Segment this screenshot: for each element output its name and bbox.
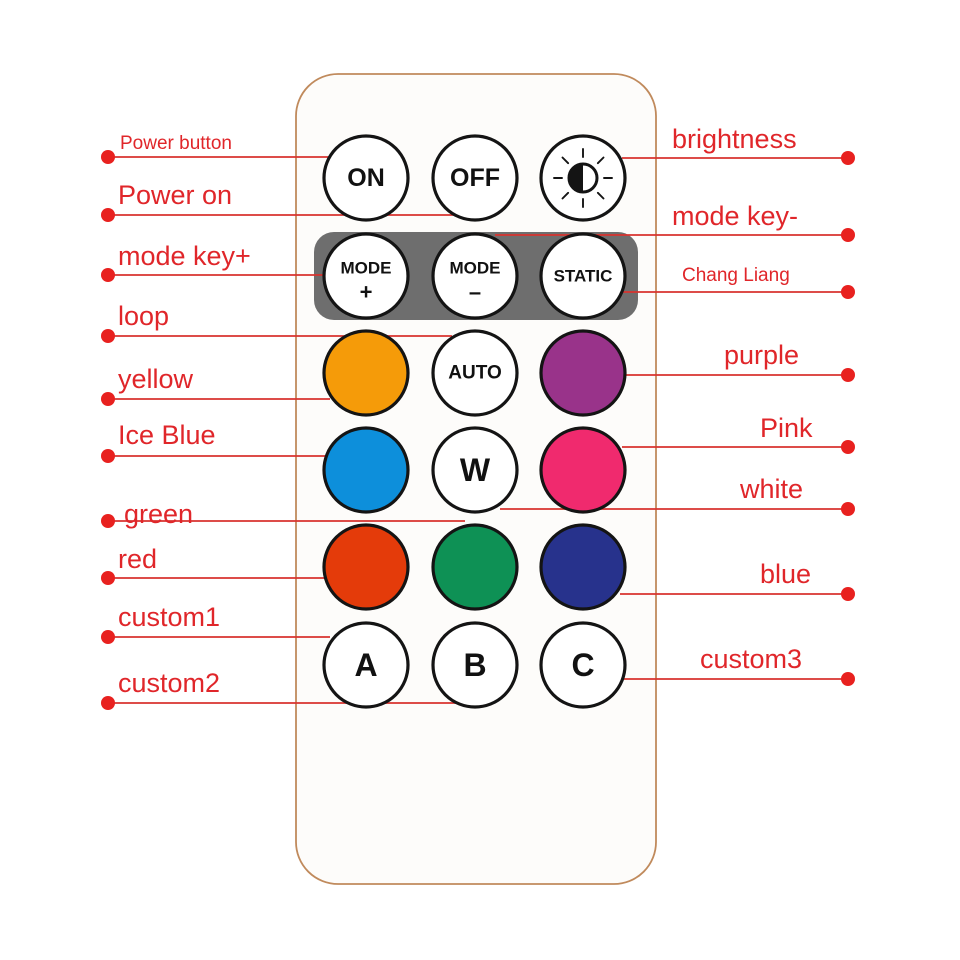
- button-text: AUTO: [448, 363, 501, 384]
- callout-label-mode-key-plus: mode key+: [118, 241, 251, 271]
- remote-button-pink[interactable]: [541, 428, 625, 512]
- leader-dot: [101, 571, 115, 585]
- leader-dot: [841, 440, 855, 454]
- leader-dot: [101, 392, 115, 406]
- button-text: W: [460, 452, 491, 488]
- remote-button-green[interactable]: [433, 525, 517, 609]
- callout-label-custom2: custom2: [118, 668, 220, 698]
- leader-dot: [101, 449, 115, 463]
- leader-dot: [841, 228, 855, 242]
- leader-dot: [841, 587, 855, 601]
- callout-label-purple: purple: [724, 340, 799, 370]
- remote-button-auto[interactable]: AUTO: [433, 331, 517, 415]
- button-text: STATIC: [554, 267, 613, 286]
- leader-dot: [101, 329, 115, 343]
- remote-button-brightness[interactable]: [541, 136, 625, 220]
- button-subtext: –: [469, 280, 481, 305]
- button-text: OFF: [450, 164, 500, 192]
- callout-label-pink: Pink: [760, 413, 813, 443]
- remote-button-custom-c[interactable]: C: [541, 623, 625, 707]
- button-face[interactable]: [433, 525, 517, 609]
- leader-dot: [841, 502, 855, 516]
- remote-button-red[interactable]: [324, 525, 408, 609]
- remote-button-custom-b[interactable]: B: [433, 623, 517, 707]
- remote-button-mode-minus[interactable]: MODE–: [433, 234, 517, 318]
- button-text: C: [571, 647, 594, 683]
- brightness-icon: [554, 149, 612, 207]
- button-face[interactable]: [324, 525, 408, 609]
- button-text: ON: [347, 164, 385, 192]
- button-subtext: +: [360, 280, 373, 305]
- callout-labels-right: brightnessmode key-Chang LiangpurplePink…: [672, 124, 813, 674]
- callout-label-custom1: custom1: [118, 602, 220, 632]
- callout-label-white: white: [739, 474, 803, 504]
- callout-label-brightness: brightness: [672, 124, 797, 154]
- callout-leader-pink: [622, 440, 855, 454]
- leader-dot: [841, 672, 855, 686]
- callout-leader-purple: [622, 368, 855, 382]
- callout-label-power-button: Power button: [120, 133, 232, 154]
- callout-label-power-on: Power on: [118, 180, 232, 210]
- callout-label-mode-key-minus: mode key-: [672, 201, 798, 231]
- remote-annotation-diagram: ONOFFMODE+MODE–STATICAUTOWABC Power butt…: [0, 0, 960, 960]
- callout-label-ice-blue: Ice Blue: [118, 420, 216, 450]
- button-text: B: [463, 647, 486, 683]
- callout-label-red: red: [118, 544, 157, 574]
- remote-button-off[interactable]: OFF: [433, 136, 517, 220]
- leader-dot: [101, 514, 115, 528]
- diagram-canvas: ONOFFMODE+MODE–STATICAUTOWABC Power butt…: [0, 0, 960, 960]
- button-text: MODE: [450, 259, 501, 278]
- remote-button-mode-plus[interactable]: MODE+: [324, 234, 408, 318]
- callout-label-chang-liang: Chang Liang: [682, 265, 790, 286]
- button-face[interactable]: [541, 525, 625, 609]
- leader-dot: [101, 268, 115, 282]
- leader-dot: [841, 285, 855, 299]
- callout-label-yellow: yellow: [118, 364, 194, 394]
- callout-label-loop: loop: [118, 301, 169, 331]
- callout-label-blue: blue: [760, 559, 811, 589]
- button-face[interactable]: [541, 428, 625, 512]
- remote-button-purple[interactable]: [541, 331, 625, 415]
- remote-button-static[interactable]: STATIC: [541, 234, 625, 318]
- leader-dot: [101, 696, 115, 710]
- remote-button-ice-blue[interactable]: [324, 428, 408, 512]
- remote-button-on[interactable]: ON: [324, 136, 408, 220]
- button-text: MODE: [341, 259, 392, 278]
- callout-labels-left: Power buttonPower onmode key+loopyellowI…: [118, 133, 251, 698]
- leader-dot: [101, 208, 115, 222]
- button-face[interactable]: [324, 428, 408, 512]
- leader-dot: [101, 150, 115, 164]
- button-face[interactable]: [324, 331, 408, 415]
- button-text: A: [354, 647, 377, 683]
- leader-dot: [101, 630, 115, 644]
- leader-dot: [841, 368, 855, 382]
- callout-label-custom3: custom3: [700, 644, 802, 674]
- button-face[interactable]: [541, 331, 625, 415]
- leader-dot: [841, 151, 855, 165]
- callout-label-green: green: [124, 499, 193, 529]
- remote-button-blue[interactable]: [541, 525, 625, 609]
- remote-button-yellow[interactable]: [324, 331, 408, 415]
- remote-button-custom-a[interactable]: A: [324, 623, 408, 707]
- remote-button-white[interactable]: W: [433, 428, 517, 512]
